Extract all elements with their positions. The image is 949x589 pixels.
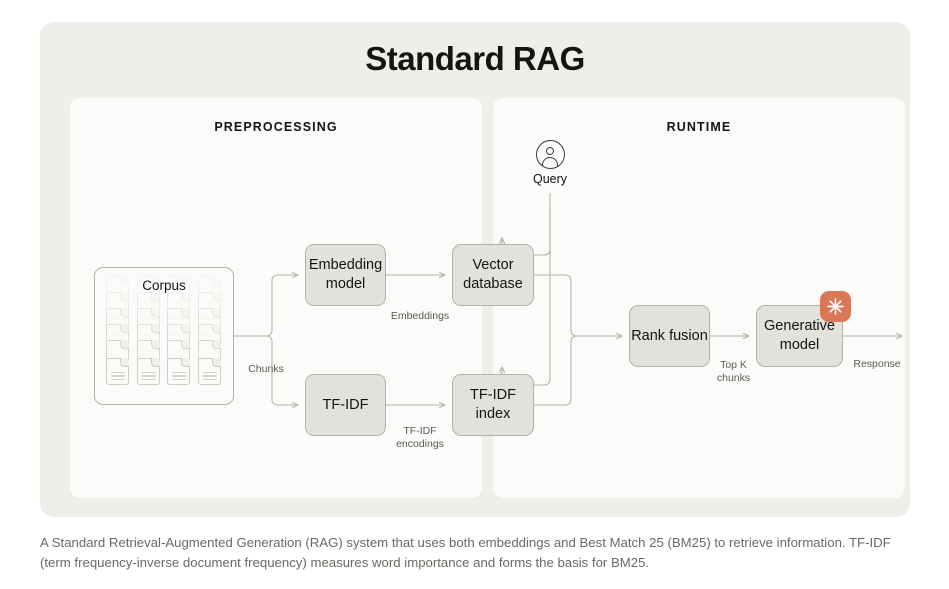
figure-caption: A Standard Retrieval-Augmented Generatio… — [40, 533, 915, 572]
edge-label-embeddings: Embeddings — [387, 310, 453, 323]
document-icon — [137, 358, 160, 385]
node-tfidf-index[interactable]: TF-IDF index — [452, 374, 534, 436]
edge-label-top-k-chunks: Top K chunks — [710, 359, 757, 385]
node-query-label: Query — [520, 172, 580, 186]
document-lines — [111, 370, 125, 381]
node-vector-database[interactable]: Vector database — [452, 244, 534, 306]
page-title: Standard RAG — [40, 40, 910, 78]
document-lines — [142, 370, 156, 381]
document-column — [137, 276, 163, 398]
document-lines — [203, 370, 217, 381]
document-icon — [198, 358, 221, 385]
node-query[interactable]: Query — [520, 140, 580, 186]
document-icon — [106, 358, 129, 385]
anthropic-starburst-icon — [820, 291, 851, 322]
user-avatar-icon — [536, 140, 565, 169]
avatar-head — [546, 147, 554, 155]
diagram-card: Standard RAG PREPROCESSING RUNTIME — [40, 22, 910, 517]
node-rank-fusion[interactable]: Rank fusion — [629, 305, 710, 367]
diagram-page: Standard RAG PREPROCESSING RUNTIME — [0, 0, 949, 589]
section-label-preprocessing: PREPROCESSING — [70, 120, 482, 134]
node-embedding-model[interactable]: Embedding model — [305, 244, 386, 306]
document-icon — [167, 358, 190, 385]
edge-label-response: Response — [847, 358, 907, 371]
document-column — [106, 276, 132, 398]
document-column — [198, 276, 224, 398]
document-lines — [172, 370, 186, 381]
node-corpus[interactable]: Corpus — [94, 267, 234, 405]
edge-label-chunks: Chunks — [236, 363, 296, 376]
edge-label-tfidf-encodings: TF-IDF encodings — [387, 425, 453, 451]
section-label-runtime: RUNTIME — [493, 120, 905, 134]
node-corpus-label: Corpus — [95, 278, 233, 293]
node-tfidf[interactable]: TF-IDF — [305, 374, 386, 436]
document-column — [167, 276, 193, 398]
avatar-body — [542, 157, 558, 166]
corpus-document-stack — [106, 276, 224, 398]
